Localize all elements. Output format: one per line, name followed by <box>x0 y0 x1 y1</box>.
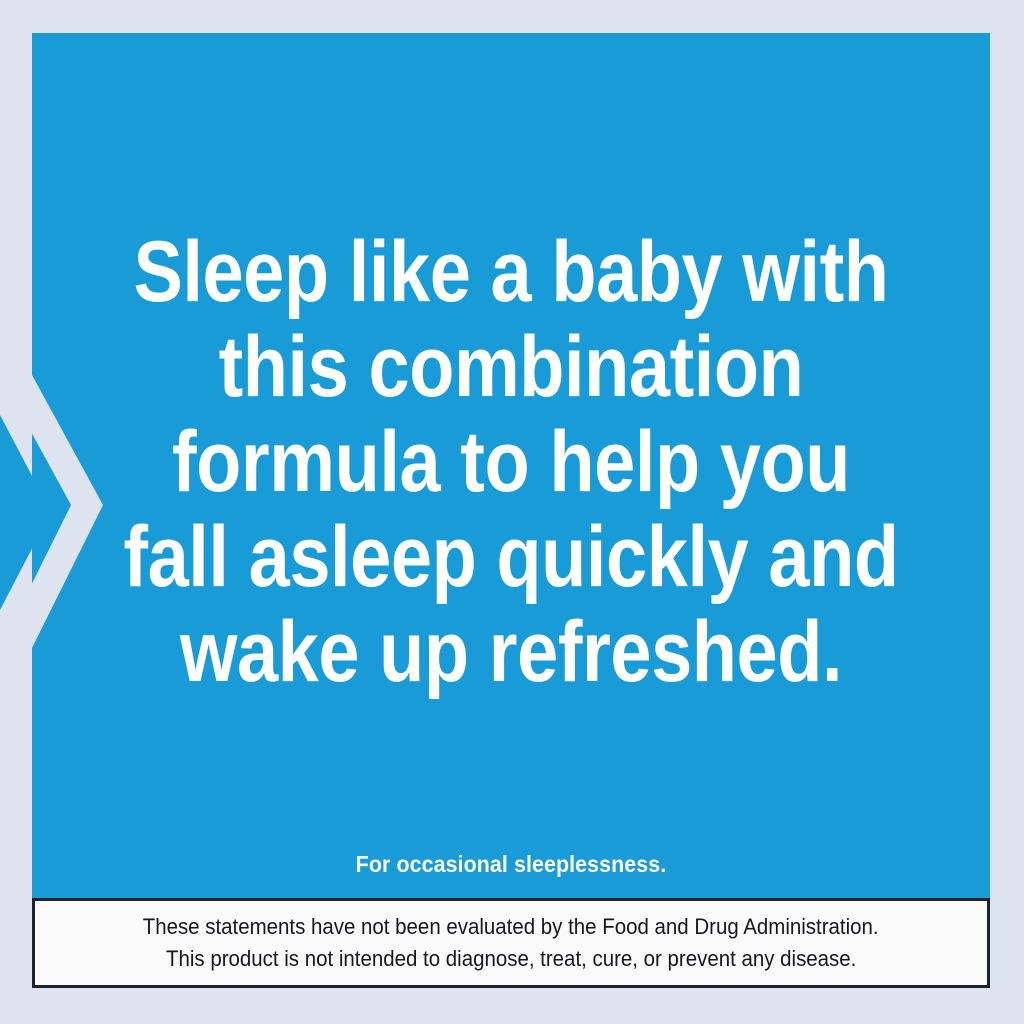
hero-panel <box>32 33 990 898</box>
subtitle: For occasional sleeplessness. <box>66 850 957 878</box>
disclaimer-line-2: This product is not intended to diagnose… <box>166 943 856 975</box>
disclaimer-box: These statements have not been evaluated… <box>32 898 990 988</box>
disclaimer-line-1: These statements have not been evaluated… <box>143 911 879 943</box>
promotional-card: Sleep like a baby with this combination … <box>0 0 1024 1024</box>
